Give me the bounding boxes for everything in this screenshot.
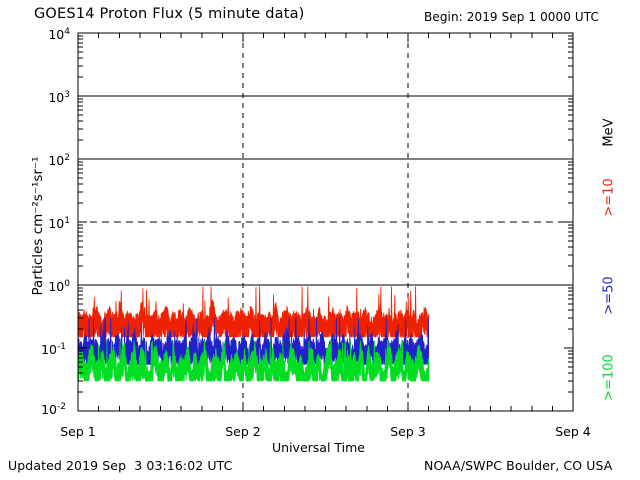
plot-area xyxy=(0,0,640,480)
trace-ge10 xyxy=(78,286,429,337)
data-traces xyxy=(78,285,573,381)
chart-canvas: GOES14 Proton Flux (5 minute data) Begin… xyxy=(0,0,640,480)
